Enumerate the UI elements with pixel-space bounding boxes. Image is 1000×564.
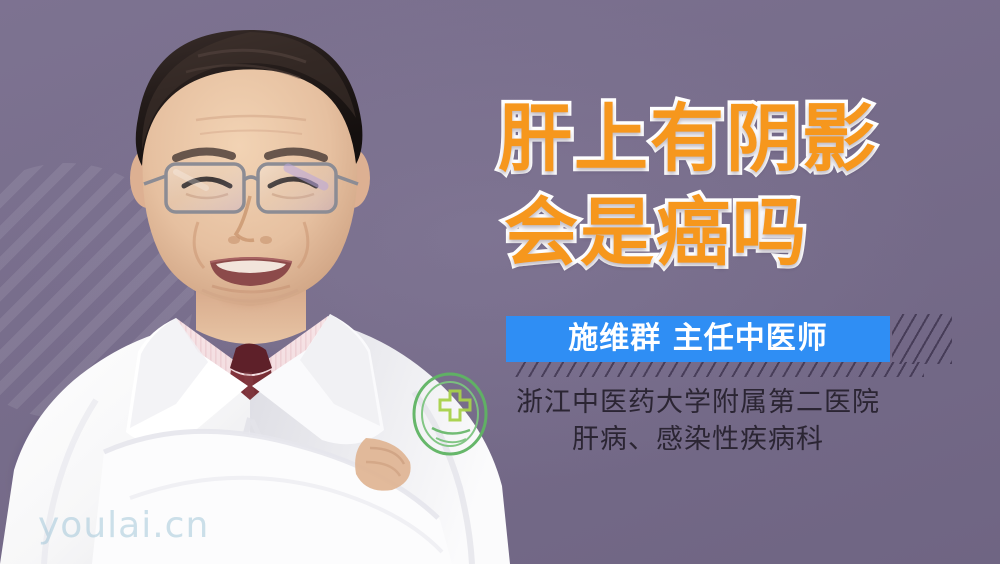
headline: 肝上有阴影 会是癌吗 bbox=[498, 92, 968, 280]
diagonal-hatch-right bbox=[892, 314, 952, 364]
doctor-name-title: 施维群 主任中医师 bbox=[568, 324, 827, 354]
diagonal-hatch-bottom bbox=[514, 362, 924, 377]
site-watermark: youlai.cn bbox=[38, 505, 209, 546]
doctor-name-badge: 施维群 主任中医师 bbox=[506, 316, 890, 362]
affiliation-hospital: 浙江中医药大学附属第二医院 bbox=[498, 384, 898, 421]
headline-line-2: 会是癌吗 bbox=[498, 186, 968, 280]
doctor-badge-area: 施维群 主任中医师 bbox=[506, 314, 936, 374]
doctor-portrait bbox=[0, 0, 520, 564]
affiliation: 浙江中医药大学附属第二医院 肝病、感染性疾病科 bbox=[498, 384, 898, 458]
video-thumbnail-poster: 肝上有阴影 会是癌吗 施维群 主任中医师 浙江中医药大学附属第二医院 肝病、感染… bbox=[0, 0, 1000, 564]
headline-line-1: 肝上有阴影 bbox=[498, 92, 968, 186]
affiliation-department: 肝病、感染性疾病科 bbox=[498, 421, 898, 458]
portrait-illustration bbox=[0, 0, 520, 564]
